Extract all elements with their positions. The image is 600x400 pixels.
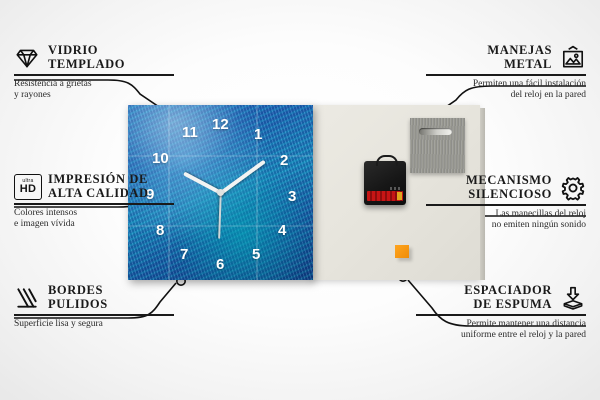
mechanism-label-strip	[390, 187, 402, 190]
metal-hanger-plate	[410, 118, 465, 173]
feature-title: Manejas metal	[487, 44, 552, 71]
aa-battery	[367, 191, 403, 201]
feature-title: Vidrio templado	[48, 44, 125, 71]
clock-center-pin	[217, 189, 224, 196]
clock-minute-hand	[219, 159, 265, 194]
silent-quartz-mechanism	[364, 161, 406, 205]
clock-hour-hand	[182, 171, 221, 194]
clock-numeral-10: 10	[152, 151, 169, 166]
foam-spacer-icon	[560, 285, 586, 311]
clock-second-hand	[218, 192, 221, 238]
feature-bordes-pulidos: Bordes pulidos Superficie lisa y segura	[14, 284, 174, 330]
infographic-canvas: 12 1 2 3 4 5 6 7 8 9 10 11 Vidrio tem	[0, 0, 600, 400]
feature-desc: Superficie lisa y segura	[14, 319, 174, 331]
feature-espaciador-espuma: Espaciador de espuma Permite mantener un…	[416, 284, 586, 342]
feature-rule	[14, 203, 174, 205]
feature-mecanismo-silencioso: Mecanismo silencioso Las manecillas del …	[426, 174, 586, 232]
feature-title: Espaciador de espuma	[464, 284, 552, 311]
feature-title: Bordes pulidos	[48, 284, 108, 311]
clock-numeral-6: 6	[216, 257, 224, 272]
gear-icon	[560, 175, 586, 201]
feature-desc: Resistencia a grietas y rayones	[14, 79, 174, 102]
feature-desc: Colores intensos e imagen vívida	[14, 208, 174, 231]
feature-rule	[14, 314, 174, 316]
clock-numeral-11: 11	[182, 125, 198, 140]
feature-rule	[426, 74, 586, 76]
feature-impresion-alta-calidad: ultra HD Impresión de alta calidad Color…	[14, 173, 174, 231]
ultra-hd-icon: ultra HD	[14, 174, 40, 200]
clock-numeral-7: 7	[180, 247, 188, 262]
diamond-icon	[14, 45, 40, 71]
feature-rule	[14, 74, 174, 76]
clock-numeral-12: 12	[212, 117, 229, 132]
feature-manejas-metal: Manejas metal Permiten una fácil instala…	[426, 44, 586, 102]
feature-vidrio-templado: Vidrio templado Resistencia a grietas y …	[14, 44, 174, 102]
feature-title: Mecanismo silencioso	[466, 174, 552, 201]
clock-numeral-2: 2	[280, 153, 288, 168]
ultra-hd-large-text: HD	[20, 184, 37, 195]
picture-hanger-icon	[560, 45, 586, 71]
feature-title: Impresión de alta calidad	[48, 173, 149, 200]
clock-numeral-5: 5	[252, 247, 260, 262]
foam-spacer	[395, 245, 409, 258]
feature-rule	[416, 314, 586, 316]
polished-edges-icon	[14, 285, 40, 311]
clock-numeral-3: 3	[288, 189, 296, 204]
mechanism-hook	[376, 155, 398, 166]
clock-numeral-4: 4	[278, 223, 286, 238]
feature-rule	[426, 204, 586, 206]
feature-desc: Las manecillas del reloj no emiten ningú…	[426, 209, 586, 232]
hanger-keyhole-slot	[419, 128, 452, 135]
feature-desc: Permiten una fácil instalación del reloj…	[426, 79, 586, 102]
clock-numeral-1: 1	[254, 127, 262, 142]
feature-desc: Permite mantener una distancia uniforme …	[416, 319, 586, 342]
